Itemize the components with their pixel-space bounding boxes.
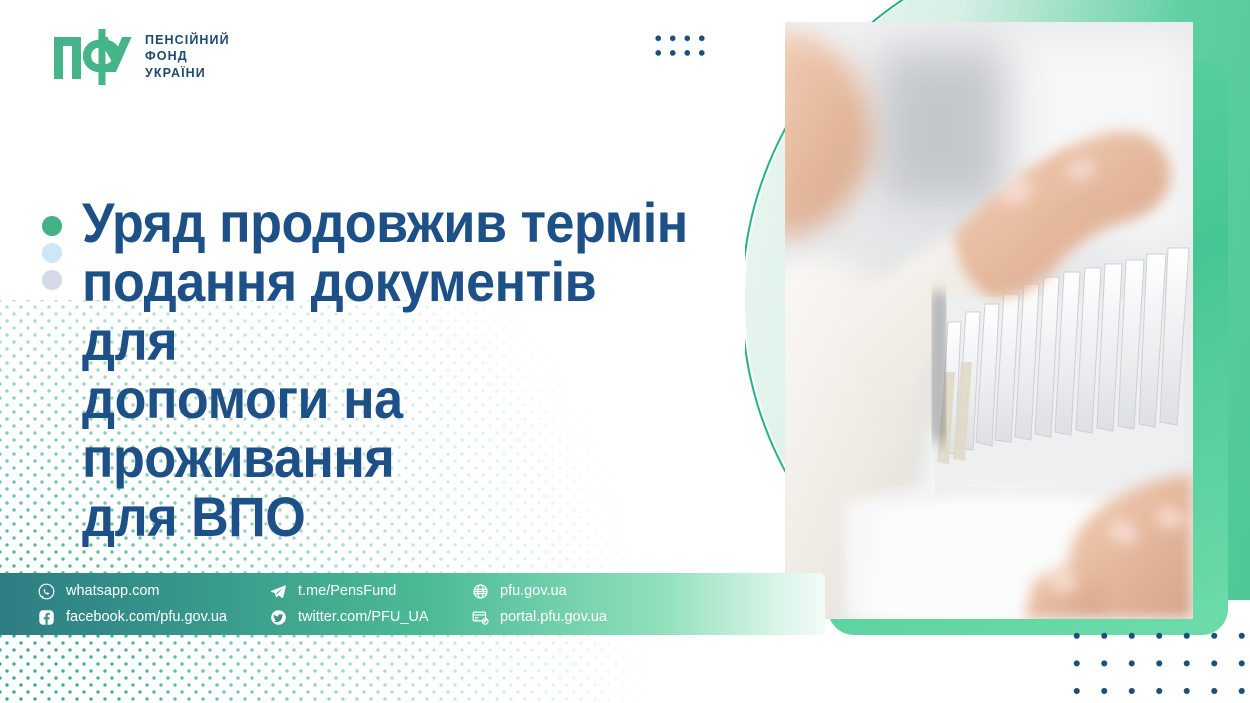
bullet-lightblue bbox=[42, 243, 62, 263]
footer-link-label: portal.pfu.gov.ua bbox=[500, 609, 607, 626]
bullet-lavender bbox=[42, 270, 62, 290]
footer-column-messengers: t.me/PensFund twitter.com/PFU_UA bbox=[270, 573, 472, 635]
footer-column-social: whatsapp.com facebook.com/pfu.gov.ua bbox=[38, 573, 270, 635]
footer-link-label: facebook.com/pfu.gov.ua bbox=[66, 609, 227, 626]
pfu-logo: ПЕНСІЙНИЙ ФОНД УКРАЇНИ bbox=[52, 27, 230, 87]
poster-canvas: ПЕНСІЙНИЙ ФОНД УКРАЇНИ Уряд продовжив те… bbox=[0, 0, 1250, 703]
telegram-icon bbox=[270, 583, 287, 600]
footer-link-label: pfu.gov.ua bbox=[500, 583, 567, 600]
logo-line-3: УКРАЇНИ bbox=[145, 67, 230, 80]
dot-grid-bottom-right-decoration bbox=[1063, 622, 1250, 703]
facebook-icon bbox=[38, 609, 55, 626]
footer-links: whatsapp.com facebook.com/pfu.gov.ua t.m… bbox=[0, 573, 825, 635]
photo-illustration bbox=[785, 22, 1193, 619]
footer-link-whatsapp[interactable]: whatsapp.com bbox=[38, 583, 270, 600]
footer-link-label: t.me/PensFund bbox=[298, 583, 396, 600]
whatsapp-icon bbox=[38, 583, 55, 600]
footer-link-label: whatsapp.com bbox=[66, 583, 160, 600]
dot-grid-top-decoration bbox=[651, 31, 713, 63]
logo-line-1: ПЕНСІЙНИЙ bbox=[145, 34, 230, 47]
page-title: Уряд продовжив термін подання документів… bbox=[82, 194, 696, 547]
portal-card-icon bbox=[472, 609, 489, 626]
footer-link-label: twitter.com/PFU_UA bbox=[298, 609, 429, 626]
footer-link-facebook[interactable]: facebook.com/pfu.gov.ua bbox=[38, 609, 270, 626]
footer-link-telegram[interactable]: t.me/PensFund bbox=[270, 583, 472, 600]
pfu-logo-mark-icon bbox=[52, 27, 132, 87]
footer-link-website[interactable]: pfu.gov.ua bbox=[472, 583, 672, 600]
bullet-green bbox=[42, 216, 62, 236]
hero-photo bbox=[785, 22, 1193, 619]
pfu-logo-wordmark: ПЕНСІЙНИЙ ФОНД УКРАЇНИ bbox=[145, 34, 230, 79]
twitter-icon bbox=[270, 609, 287, 626]
logo-line-2: ФОНД bbox=[145, 50, 230, 63]
footer-link-portal[interactable]: portal.pfu.gov.ua bbox=[472, 609, 672, 626]
footer-link-twitter[interactable]: twitter.com/PFU_UA bbox=[270, 609, 472, 626]
footer-column-sites: pfu.gov.ua portal.pfu.gov.ua bbox=[472, 573, 672, 635]
headline-bullets bbox=[42, 216, 62, 290]
globe-icon bbox=[472, 583, 489, 600]
